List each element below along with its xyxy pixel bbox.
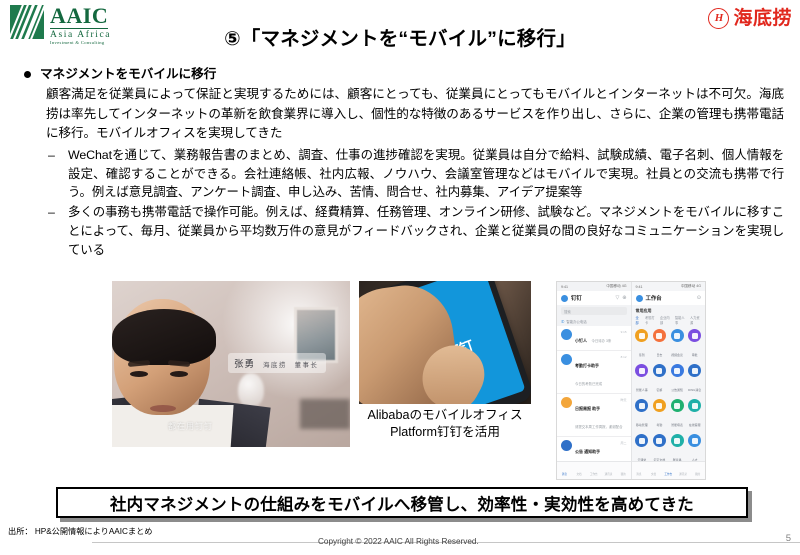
sub-bullet-item: – 多くの事務も携帯電話で操作可能。例えば、経費精算、任務管理、オンライン研修、… <box>46 203 784 260</box>
tab-all[interactable]: 全部 <box>636 315 642 325</box>
tab-workbench[interactable]: 工作台 <box>586 462 601 480</box>
tab-workbench[interactable]: 工作台 <box>661 462 676 480</box>
app-icon <box>635 434 648 447</box>
app-label: 视频会议 <box>671 353 683 357</box>
app-icon <box>635 399 648 412</box>
eye-right <box>170 371 188 377</box>
sub-bullet-item: – WeChatを通じて、業務報告書のまとめ、調査、仕事の進捗確認を実現。従業員… <box>46 146 784 203</box>
chat-title: 钉钉 <box>571 294 582 302</box>
tab-label: 文档 <box>576 473 581 476</box>
banner-text: 社内マネジメントの仕組みをモバイルへ移管し、効率性・実効性を高めてきた <box>56 487 748 518</box>
speaker-name: 张勇 <box>234 356 255 370</box>
body-paragraph: 顧客満足を従業員によって保証と実現するためには、顧客にとっても、従業員にとっても… <box>46 85 784 142</box>
app-icon <box>688 329 701 342</box>
app-label: 签到 <box>639 353 645 357</box>
chat-topbar: 钉钉 ▽ ⊕ <box>557 291 631 305</box>
bullet-dot-icon <box>24 71 31 78</box>
page-title: ⑤「マネジメントを“モバイル”に移行」 <box>0 22 800 51</box>
tab-hr[interactable]: 智能人事 <box>675 315 686 325</box>
more-icon[interactable]: ⊙ <box>697 295 701 301</box>
avatar <box>636 295 643 302</box>
workbench-topbar: 工作台 ⊙ <box>632 291 706 305</box>
sub-bullet-list: – WeChatを通じて、業務報告書のまとめ、調査、仕事の進捗確認を実現。従業員… <box>46 146 784 260</box>
interview-photo: 张勇 海底捞 董事长 都在用钉钉 <box>112 281 350 447</box>
bullet-heading: マネジメントをモバイルに移行 <box>24 66 784 82</box>
app-label: 审批 <box>692 353 698 357</box>
chat-preview: 请提交本周工作周报，谢谢配合 <box>575 425 622 429</box>
app-icon <box>688 399 701 412</box>
app-label: 考勤 <box>657 423 663 427</box>
video-subtitle: 都在用钉钉 <box>168 421 213 432</box>
source-note: 出所： HP&公開情報によりAAICまとめ <box>8 525 153 537</box>
app-icon <box>653 434 666 447</box>
chat-name: 考勤打卡助手 <box>575 363 599 368</box>
tab-label: 消息 <box>636 473 641 476</box>
person-hair <box>112 309 216 365</box>
chat-preview: 今日待办 3条 <box>591 339 611 343</box>
content-body: マネジメントをモバイルに移行 顧客満足を従業員によって保証と実現するためには、顧… <box>24 66 784 260</box>
chat-time: 8:12 <box>621 355 627 359</box>
tab-profile[interactable]: 我的 <box>616 462 631 480</box>
app-cell[interactable]: 智能人事 <box>634 364 651 396</box>
chat-time: 昨天 <box>620 398 626 402</box>
app-icon-grid: 签到 日志 视频会议 审批 智能人事 钉邮 公告通知 DING消息 移动管理 考… <box>632 328 706 479</box>
app-label: 智能人事 <box>636 388 648 392</box>
category-tabs[interactable]: 全部 考勤打卡 企业内部 智能人事 人力资源 <box>632 315 706 328</box>
app-cell[interactable]: 日志 <box>651 329 668 361</box>
chat-time: 9:15 <box>621 330 627 334</box>
bottom-tab-bar[interactable]: 消息 文档 工作台 通讯录 <box>632 461 706 479</box>
app-cell[interactable]: 移动管理 <box>634 399 651 431</box>
tab-label: 文档 <box>651 473 656 476</box>
tab-label: 工作台 <box>590 473 598 476</box>
topbar-actions[interactable]: ▽ ⊕ <box>615 295 626 301</box>
app-icon <box>653 399 666 412</box>
app-cell[interactable]: DING消息 <box>686 364 703 396</box>
notice-label: 智能办公电话 <box>566 319 586 324</box>
dingtalk-chat-screen: 9:41 中国移动 4G 钉钉 ▽ ⊕ 搜索 ✆ 智能办公电话 <box>557 282 632 479</box>
tab-label: 通讯录 <box>679 473 687 476</box>
app-icon <box>688 364 701 377</box>
app-cell[interactable]: 考勤 <box>651 399 668 431</box>
avatar <box>561 397 572 408</box>
chat-name: 公告 通知助手 <box>575 449 600 454</box>
app-icon <box>653 329 666 342</box>
speaker-role: 海底捞 董事长 <box>263 359 318 369</box>
dash-marker-icon: – <box>46 203 68 222</box>
status-carrier: 中国移动 4G <box>681 284 701 289</box>
phone-in-hand-photo: 钉钉 <box>359 281 531 404</box>
status-time: 9:41 <box>561 285 568 289</box>
lamp-shade <box>238 373 264 407</box>
eyebrow-right <box>168 360 190 367</box>
tab-label: 我的 <box>621 473 626 476</box>
tab-label: 我的 <box>695 473 700 476</box>
person-face <box>114 299 210 415</box>
tab-attendance[interactable]: 考勤打卡 <box>645 315 656 325</box>
app-cell[interactable]: 钉邮 <box>651 364 668 396</box>
summary-banner: 社内マネジメントの仕組みをモバイルへ移管し、効率性・実効性を高めてきた <box>56 487 748 518</box>
app-label: 在线客服 <box>689 423 701 427</box>
avatar <box>561 329 572 340</box>
bottom-tab-bar[interactable]: 消息 文档 工作台 通讯录 <box>557 461 631 479</box>
tab-label: 消息 <box>562 473 567 476</box>
search-input[interactable]: 搜索 <box>561 307 627 315</box>
topbar-actions[interactable]: ⊙ <box>697 295 701 301</box>
status-bar: 9:41 中国移动 4G <box>632 282 706 291</box>
app-label: 日志 <box>657 353 663 357</box>
app-icon <box>671 399 684 412</box>
bullet-heading-label: マネジメントをモバイルに移行 <box>40 66 216 82</box>
app-icon <box>671 364 684 377</box>
app-icon <box>688 434 701 447</box>
app-cell[interactable]: 签到 <box>634 329 651 361</box>
dash-marker-icon: – <box>46 146 68 165</box>
app-label: 移动管理 <box>636 423 648 427</box>
tab-label: 工作台 <box>664 473 672 476</box>
app-label: 钉邮 <box>657 388 663 392</box>
image-row: 张勇 海底捞 董事长 都在用钉钉 钉钉 Alibabaのモバイルオフィス Pla… <box>0 281 800 486</box>
list-item[interactable]: 日报周报 助手 请提交本周工作周报，谢谢配合 昨天 <box>557 394 631 437</box>
filter-icon[interactable]: ▽ <box>615 295 619 301</box>
chat-time: 周二 <box>620 441 626 445</box>
tab-internal[interactable]: 企业内部 <box>660 315 671 325</box>
app-label: 智能填表 <box>671 423 683 427</box>
slide-canvas: AAIC Asia Africa Investment & Consulting… <box>0 0 800 555</box>
chat-preview: 今日的考勤已完成 <box>575 382 602 386</box>
app-icon <box>671 434 684 447</box>
app-cell[interactable]: 在线客服 <box>686 399 703 431</box>
app-cell[interactable]: 视频会议 <box>669 329 686 361</box>
tab-resources[interactable]: 人力资源 <box>690 315 701 325</box>
avatar <box>561 295 568 302</box>
avatar <box>561 440 572 451</box>
app-icon <box>671 329 684 342</box>
app-icon <box>635 329 648 342</box>
furniture-blur <box>300 399 350 429</box>
status-carrier: 中国移动 4G <box>606 284 626 289</box>
avatar <box>561 354 572 365</box>
tab-messages[interactable]: 消息 <box>632 462 647 480</box>
tab-messages[interactable]: 消息 <box>557 462 572 480</box>
status-bar: 9:41 中国移动 4G <box>557 282 631 291</box>
tab-profile[interactable]: 我的 <box>690 462 705 480</box>
workbench-title: 工作台 <box>646 294 662 302</box>
app-cell[interactable]: 智能填表 <box>669 399 686 431</box>
tab-docs[interactable]: 文档 <box>646 462 661 480</box>
tab-label: 通讯录 <box>605 473 613 476</box>
sub-bullet-text: 多くの事務も携帯電話で操作可能。例えば、経費精算、任務管理、オンライン研修、試験… <box>68 203 784 260</box>
tab-contacts[interactable]: 通讯录 <box>676 462 691 480</box>
tab-docs[interactable]: 文档 <box>572 462 587 480</box>
chat-name: 日报周报 助手 <box>575 406 600 411</box>
dingtalk-workbench-screen: 9:41 中国移动 4G 工作台 ⊙ 常用应用 全部 考勤打卡 企业内部 智能人… <box>632 282 706 479</box>
phone-icon: ✆ <box>561 319 564 324</box>
app-icon <box>653 364 666 377</box>
app-cell[interactable]: 审批 <box>686 329 703 361</box>
app-label: 公告通知 <box>671 388 683 392</box>
app-label: DING消息 <box>688 388 701 392</box>
eyebrow-left <box>128 360 150 367</box>
page-number: 5 <box>786 533 791 544</box>
app-cell[interactable]: 公告通知 <box>669 364 686 396</box>
phone-photo-caption: Alibabaのモバイルオフィス Platform钉钉を活用 <box>347 407 543 441</box>
add-icon[interactable]: ⊕ <box>622 295 626 301</box>
copyright-text: Copyright © 2022 AAIC All Rights Reserve… <box>318 537 479 546</box>
chat-name: 小钉人 <box>575 338 587 343</box>
mouth <box>150 405 176 412</box>
tab-contacts[interactable]: 通讯录 <box>601 462 616 480</box>
sub-bullet-text: WeChatを通じて、業務報告書のまとめ、調査、仕事の進捗確認を実現。従業員は自… <box>68 146 784 203</box>
section-heading: 常用应用 <box>632 305 706 315</box>
status-time: 9:41 <box>636 285 643 289</box>
eye-left <box>130 371 148 377</box>
app-icon <box>635 364 648 377</box>
list-item[interactable]: 考勤打卡助手 今日的考勤已完成 8:12 <box>557 351 631 394</box>
smart-phone-notice[interactable]: ✆ 智能办公电话 <box>561 317 627 325</box>
lower-third-nameplate: 张勇 海底捞 董事长 <box>228 353 326 373</box>
list-item[interactable]: 小钉人 今日待办 3条 9:15 <box>557 326 631 351</box>
app-screenshots: 9:41 中国移动 4G 钉钉 ▽ ⊕ 搜索 ✆ 智能办公电话 <box>556 281 706 480</box>
